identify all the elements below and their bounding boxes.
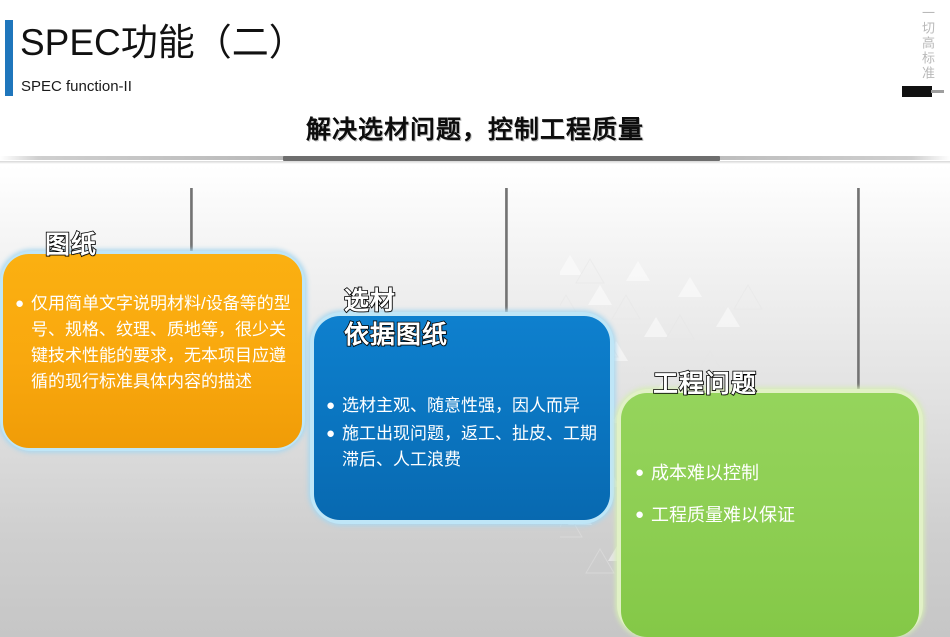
header-divider-shadow [0,161,950,164]
bullet-icon: ● [635,495,651,535]
bullet-text: 施工出现问题，返工、扯皮、工期滞后、人工浪费 [342,421,602,473]
card-material-body: ● 选材主观、随意性强，因人而异 ● 施工出现问题，返工、扯皮、工期滞后、人工浪… [326,393,602,475]
connector-line-engineering [857,188,860,396]
list-item: ● 成本难以控制 [635,453,911,493]
bullet-text: 成本难以控制 [651,453,911,493]
list-item: ● 工程质量难以保证 [635,495,911,535]
list-item: ● 施工出现问题，返工、扯皮、工期滞后、人工浪费 [326,421,602,473]
bullet-text: 工程质量难以保证 [651,495,911,535]
corner-mark-icon [902,86,932,97]
bullet-icon: ● [326,393,342,419]
card-engineering-title: 工程问题 [653,367,757,401]
section-headline: 解决选材问题，控制工程质量 [0,110,950,146]
bullet-text: 仅用简单文字说明材料/设备等的型号、规格、纹理、质地等，很少关键技术性能的要求，… [31,291,293,395]
bullet-icon: ● [15,291,31,317]
card-material-title: 选材 依据图纸 [344,284,448,352]
corner-mark-tail-icon [931,90,944,93]
bullet-icon: ● [635,453,651,493]
card-drawing-body: ● 仅用简单文字说明材料/设备等的型号、规格、纹理、质地等，很少关键技术性能的要… [15,291,293,397]
card-engineering-problem[interactable]: 工程问题 ● 成本难以控制 ● 工程质量难以保证 [621,393,919,637]
card-drawing[interactable]: 图纸 ● 仅用简单文字说明材料/设备等的型号、规格、纹理、质地等，很少关键技术性… [3,254,302,448]
list-item: ● 选材主观、随意性强，因人而异 [326,393,602,419]
page-title: SPEC功能（二） [20,20,306,66]
page-subtitle: SPEC function-II [21,78,132,95]
slide-canvas: SPEC功能（二） SPEC function-II 一切高标准 解决选材问题，… [0,0,950,637]
card-engineering-body: ● 成本难以控制 ● 工程质量难以保证 [635,453,911,537]
bullet-icon: ● [326,421,342,447]
card-material-selection[interactable]: 选材 依据图纸 ● 选材主观、随意性强，因人而异 ● 施工出现问题，返工、扯皮、… [314,316,610,520]
title-accent-bar [5,20,13,96]
bullet-text: 选材主观、随意性强，因人而异 [342,393,602,419]
connector-line-drawing [190,188,193,256]
list-item: ● 仅用简单文字说明材料/设备等的型号、规格、纹理、质地等，很少关键技术性能的要… [15,291,293,395]
vertical-slogan: 一切高标准 [920,6,936,81]
connector-line-material [505,188,508,319]
card-drawing-title: 图纸 [45,228,97,262]
